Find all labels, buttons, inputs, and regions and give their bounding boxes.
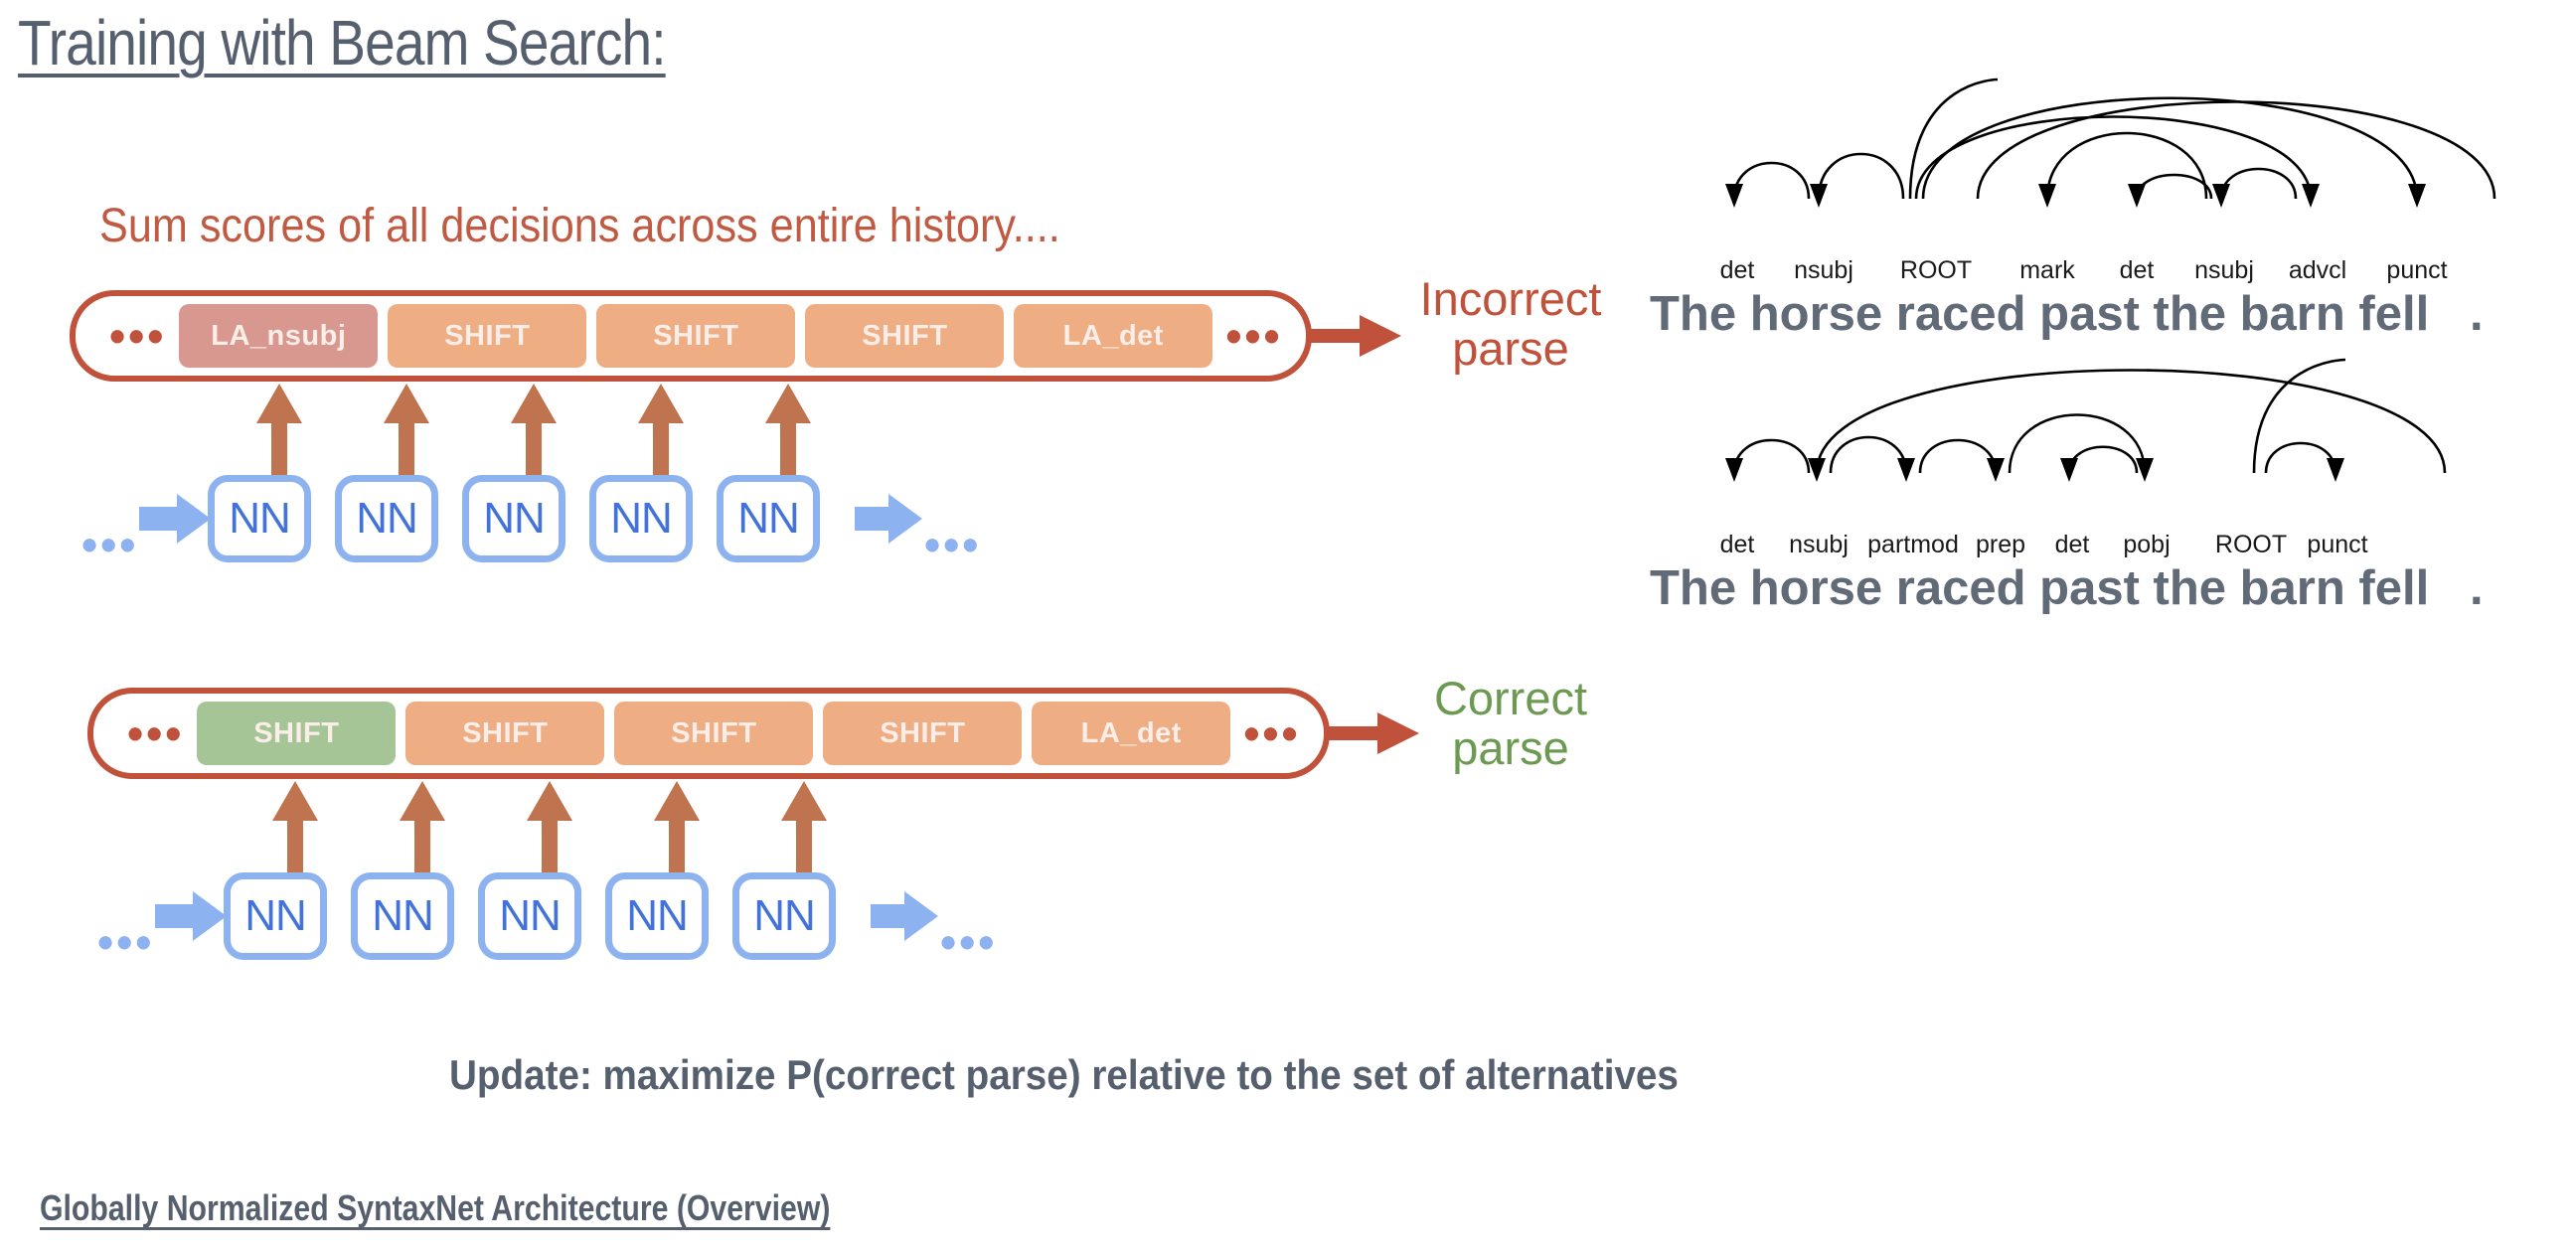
dep-label: nsubj <box>1794 256 1853 285</box>
dep-label: punct <box>2307 531 2367 559</box>
parse-sentence: The horse raced past the barn fell . <box>1650 560 2484 616</box>
nn-box[interactable]: NN <box>351 872 454 960</box>
verdict-correct-line1: Correct <box>1381 674 1640 723</box>
dependency-arcs-correct <box>1650 334 2564 582</box>
dep-label: advcl <box>2289 256 2346 285</box>
nn-box[interactable]: NN <box>224 872 327 960</box>
verdict-correct-line2: parse <box>1381 723 1640 773</box>
dep-label: ROOT <box>1900 256 1972 285</box>
dependency-parse-correct: det nsubj partmod prep det pobj ROOT pun… <box>1650 334 2564 652</box>
arrowhead <box>1810 184 1828 208</box>
arrowhead <box>2327 458 2344 482</box>
footer-title: Globally Normalized SyntaxNet Architectu… <box>40 1187 830 1229</box>
nn-box[interactable]: NN <box>478 872 581 960</box>
dep-label: prep <box>1976 531 2025 559</box>
dep-label: det <box>2055 531 2090 559</box>
arrowhead <box>1725 458 1743 482</box>
arrowhead <box>2212 184 2230 208</box>
arrowhead <box>2060 458 2078 482</box>
arrowhead <box>2302 184 2320 208</box>
arrowhead <box>2128 184 2146 208</box>
nn-box[interactable]: NN <box>732 872 836 960</box>
verdict-incorrect: Incorrect parse <box>1381 274 1640 374</box>
dep-label: nsubj <box>1789 531 1849 559</box>
nn-connectors-correct <box>0 0 1391 1023</box>
nn-box[interactable]: NN <box>605 872 709 960</box>
dep-label: det <box>1720 256 1755 285</box>
dependency-parse-incorrect: det nsubj ROOT mark det nsubj advcl punc… <box>1650 60 2564 378</box>
verdict-incorrect-line2: parse <box>1381 324 1640 374</box>
arrowhead <box>1808 458 1826 482</box>
dep-label: punct <box>2386 256 2447 285</box>
dep-label: pobj <box>2123 531 2170 559</box>
arrowhead <box>1897 458 1915 482</box>
arrowhead <box>1725 184 1743 208</box>
dep-label: mark <box>2019 256 2075 285</box>
dep-label: partmod <box>1867 531 1959 559</box>
arrowhead <box>2136 458 2154 482</box>
dep-label: det <box>1720 531 1755 559</box>
dep-label: nsubj <box>2194 256 2254 285</box>
verdict-correct: Correct parse <box>1381 674 1640 773</box>
arrowhead <box>2408 184 2426 208</box>
arrowhead <box>2038 184 2056 208</box>
nn-trailing-ellipsis: ••• <box>940 934 997 950</box>
update-caption: Update: maximize P(correct parse) relati… <box>449 1051 1679 1099</box>
slide-canvas: Training with Beam Search: Sum scores of… <box>0 0 2576 1254</box>
dep-label: ROOT <box>2215 531 2287 559</box>
verdict-incorrect-line1: Incorrect <box>1381 274 1640 324</box>
arrowhead <box>1987 458 2005 482</box>
dep-label: det <box>2120 256 2155 285</box>
